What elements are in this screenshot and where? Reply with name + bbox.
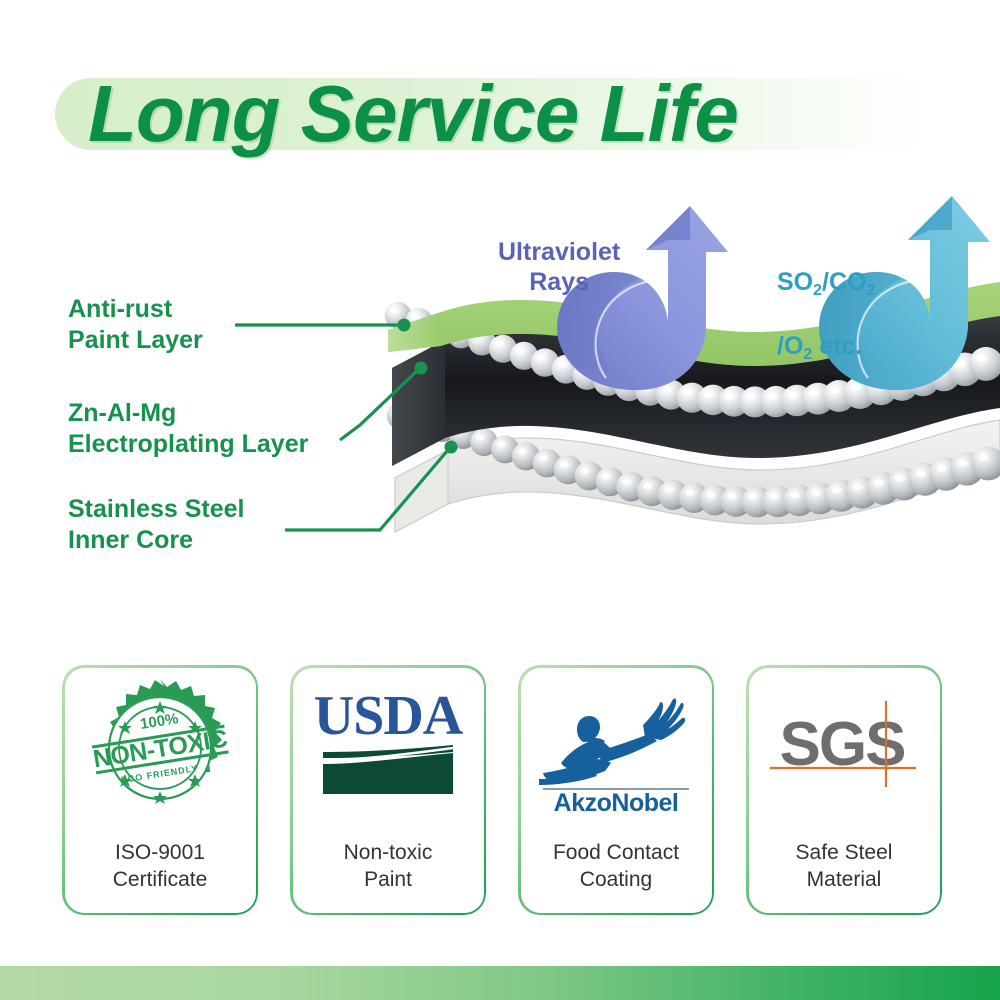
uv-rays-caption: Ultraviolet Rays xyxy=(498,237,620,297)
sgs-logo-icon: SGS xyxy=(746,673,942,823)
sphere-highlight xyxy=(539,455,548,461)
sphere-highlight xyxy=(767,393,777,400)
sphere-highlight xyxy=(497,442,506,448)
card-label-sgs: Safe Steel Material xyxy=(746,839,942,893)
akzonobel-logo-icon: AkzoNobel xyxy=(518,673,714,823)
gas-caption-line1: SO2/CO2 xyxy=(777,268,875,296)
core-layer-left-face xyxy=(392,340,445,466)
sphere-highlight xyxy=(516,348,525,354)
leader-dot-plating xyxy=(415,362,428,375)
layer-label-stainless-core: Stainless Steel Inner Core xyxy=(68,494,244,556)
non-toxic-stamp-icon: 100% ECO FRIENDLY NON-TOXIC xyxy=(62,673,258,823)
certification-card-sgs[interactable]: SGS Safe Steel Material xyxy=(746,665,942,915)
sphere-highlight xyxy=(811,490,821,497)
svg-text:AkzoNobel: AkzoNobel xyxy=(553,789,678,816)
sphere-highlight xyxy=(664,487,674,494)
sphere-highlight xyxy=(788,392,798,399)
sphere-highlight xyxy=(978,454,989,461)
sphere-highlight xyxy=(390,308,399,314)
sphere-highlight xyxy=(746,393,756,400)
leader-dot-core xyxy=(445,441,458,454)
sphere-highlight xyxy=(685,490,695,497)
sphere-highlight xyxy=(602,473,611,479)
sphere-highlight xyxy=(411,314,420,320)
sphere-highlight xyxy=(662,386,672,393)
card-label-iso9001: ISO-9001 Certificate xyxy=(62,839,258,893)
sphere-highlight xyxy=(623,479,632,485)
sphere-highlight xyxy=(748,493,758,500)
bottom-layer-left-face xyxy=(395,450,448,532)
certification-card-usda[interactable]: USDA Non-toxic Paint xyxy=(290,665,486,915)
gas-caption-line2: /O2 etc. xyxy=(777,332,862,360)
sphere-highlight xyxy=(581,468,590,474)
sphere-highlight xyxy=(832,487,842,494)
sphere-highlight xyxy=(915,470,926,477)
leader-dot-paint xyxy=(398,319,411,332)
sphere-highlight xyxy=(894,475,905,482)
svg-text:USDA: USDA xyxy=(314,685,463,747)
sphere-highlight xyxy=(790,492,800,499)
sphere-highlight xyxy=(643,483,653,490)
sphere-highlight xyxy=(518,449,527,455)
sphere-highlight xyxy=(976,355,987,362)
sphere-highlight xyxy=(853,483,863,490)
sphere-highlight xyxy=(558,361,567,367)
sphere-highlight xyxy=(851,384,861,391)
sphere-highlight xyxy=(683,389,693,396)
card-label-usda: Non-toxic Paint xyxy=(290,839,486,893)
usda-logo-icon: USDA xyxy=(290,673,486,823)
sphere-highlight xyxy=(560,462,569,468)
certification-card-iso9001[interactable]: 100% ECO FRIENDLY NON-TOXIC xyxy=(62,665,258,915)
certification-card-row: 100% ECO FRIENDLY NON-TOXIC xyxy=(62,665,942,915)
sphere-highlight xyxy=(936,465,947,472)
sphere-highlight xyxy=(809,390,819,397)
sphere-highlight xyxy=(727,493,737,500)
sphere-highlight xyxy=(955,360,966,367)
sphere-highlight xyxy=(957,459,968,466)
layer-label-zn-al-mg-plating: Zn-Al-Mg Electroplating Layer xyxy=(68,398,308,460)
certification-card-akzonobel[interactable]: AkzoNobel Food Contact Coating xyxy=(518,665,714,915)
card-label-akzonobel: Food Contact Coating xyxy=(518,839,714,893)
gas-caption: SO2/CO2 /O2 etc. xyxy=(777,237,875,365)
sphere-highlight xyxy=(704,391,714,398)
sphere-highlight xyxy=(874,479,884,486)
sphere-highlight xyxy=(725,393,735,400)
sphere-highlight xyxy=(476,435,485,441)
footer-gradient-bar xyxy=(0,966,1000,1000)
layer-label-anti-rust-paint: Anti-rust Paint Layer xyxy=(68,294,203,356)
sphere-highlight xyxy=(495,341,504,347)
sphere-highlight xyxy=(769,493,779,500)
sphere-highlight xyxy=(830,387,840,394)
infographic-stage: Long Service Life xyxy=(0,0,1000,1000)
sphere-highlight xyxy=(537,355,546,361)
sphere-highlight xyxy=(706,492,716,499)
